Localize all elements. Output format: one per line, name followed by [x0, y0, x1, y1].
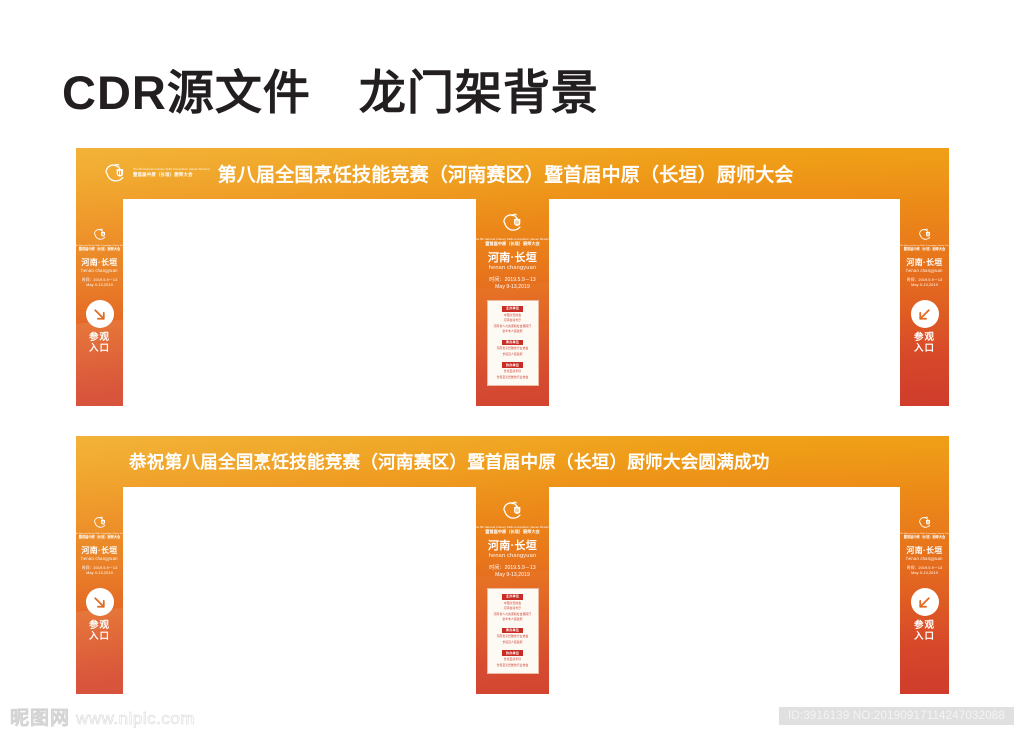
pillar-city-block: 河南·长垣 henan changyuan — [906, 547, 942, 561]
pillar-dates: 时间：2019.5.9－13 May 9-13,2019 — [907, 278, 943, 288]
chef-wok-logo-icon — [500, 499, 525, 524]
city-name-en: henan changyuan — [488, 554, 537, 560]
pillar-logo-cn: 暨首届中原（长垣）厨师大会 — [79, 536, 120, 539]
header-logo: The 8th National Culinary Skills Competi… — [102, 161, 210, 187]
city-name-cn: 河南·长垣 — [906, 547, 942, 555]
card-line: 河南省人力资源和社会保障厅 — [494, 613, 532, 616]
pillar-left: The 8th National Culinary Skills Competi… — [76, 199, 123, 406]
entry-line-2: 入口 — [89, 344, 110, 355]
banner-headline: 第八届全国烹饪技能竞赛（河南赛区）暨首届中原（长垣）厨师大会 — [218, 160, 794, 187]
pillar-logo: The 8th National Culinary Skills Competi… — [896, 515, 949, 540]
pillar-logo: The 8th National Culinary Skills Competi… — [475, 211, 551, 246]
pillar-city-block: 河南·长垣 henan changyuan — [81, 547, 117, 561]
card-line: 长垣县人民政府 — [502, 353, 522, 356]
entry-line-2: 入口 — [914, 344, 935, 355]
gantry-opening-left — [123, 199, 476, 406]
date-cn: 时间：2019.5.9－13 — [489, 565, 535, 572]
date-cn: 时间：2019.5.9－13 — [489, 277, 535, 284]
pillar-logo: The 8th National Culinary Skills Competi… — [896, 227, 949, 252]
card-line: 河南省人力资源和社会保障厅 — [494, 325, 532, 328]
gantry-opening-right — [549, 487, 900, 694]
city-name-en: henan changyuan — [81, 557, 117, 561]
city-name-en: henan changyuan — [906, 557, 942, 561]
pillar-logo-cn: 暨首届中原（长垣）厨师大会 — [485, 242, 539, 246]
card-section-heading: 承办单位 — [502, 628, 523, 634]
pillar-logo: The 8th National Culinary Skills Competi… — [475, 499, 551, 534]
pillar-logo-en: The 8th National Culinary Skills Competi… — [896, 245, 949, 247]
watermark-site-url: www.nipic.com — [76, 709, 195, 729]
watermark-site-cn: 昵图网 — [10, 703, 70, 730]
chef-wok-logo-icon — [917, 515, 933, 531]
card-line: 河南省商务厅 — [504, 607, 521, 610]
banner-header-bar: The 8th National Culinary Skills Competi… — [76, 148, 949, 199]
pillar-center: The 8th National Culinary Skills Competi… — [476, 487, 549, 694]
card-line: 长垣县人民政府 — [502, 641, 522, 644]
card-line: 中国烹饪协会 — [504, 602, 521, 605]
pillar-dates: 时间：2019.5.9－13 May 9-13,2019 — [489, 565, 535, 579]
chef-wok-logo-icon — [500, 211, 525, 236]
pillar-logo-en: The 8th National Culinary Skills Competi… — [475, 526, 551, 529]
pillar-entry-label: 参观 入口 — [89, 333, 110, 354]
gantry-opening-right — [549, 199, 900, 406]
city-name-cn: 河南·长垣 — [488, 253, 537, 265]
pillar-logo-cn: 暨首届中原（长垣）厨师大会 — [904, 248, 945, 251]
chef-wok-logo-icon — [102, 161, 128, 187]
date-en: May 9-13,2019 — [82, 283, 118, 288]
pillar-entry-label: 参观 入口 — [89, 621, 110, 642]
city-name-en: henan changyuan — [488, 266, 537, 272]
city-name-cn: 河南·长垣 — [81, 259, 117, 267]
pillar-logo: The 8th National Culinary Skills Competi… — [76, 227, 128, 252]
city-name-en: henan changyuan — [906, 269, 942, 273]
pillar-logo-en: The 8th National Culinary Skills Competi… — [475, 238, 551, 241]
arrow-down-left-icon — [911, 588, 939, 616]
gantry-banner-bottom: 恭祝第八届全国烹饪技能竞赛（河南赛区）暨首届中原（长垣）厨师大会圆满成功 The… — [76, 436, 949, 694]
date-en: May 9-13,2019 — [489, 284, 535, 291]
card-line: 长垣县烹饪餐饮行业协会 — [497, 664, 529, 667]
entry-line-2: 入口 — [89, 632, 110, 643]
card-section-heading: 承办单位 — [502, 340, 523, 346]
page-title: CDR源文件 龙门架背景 — [62, 66, 599, 120]
chef-wok-logo-icon — [92, 515, 108, 531]
pillar-dates: 时间：2019.5.9－13 May 9-13,2019 — [82, 566, 118, 576]
date-en: May 9-13,2019 — [489, 572, 535, 579]
chef-wok-logo-icon — [917, 227, 933, 243]
card-line: 长垣县商务局 — [504, 658, 521, 661]
banner-header-bar: 恭祝第八届全国烹饪技能竞赛（河南赛区）暨首届中原（长垣）厨师大会圆满成功 — [76, 436, 949, 487]
date-en: May 9-13,2019 — [907, 283, 943, 288]
date-en: May 9-13,2019 — [907, 571, 943, 576]
card-section-heading: 协办单位 — [502, 650, 523, 656]
pillar-left: The 8th National Culinary Skills Competi… — [76, 487, 123, 694]
entry-line-2: 入口 — [914, 632, 935, 643]
pillar-city-block: 河南·长垣 henan changyuan — [488, 253, 537, 272]
card-line: 中国烹饪协会 — [504, 314, 521, 317]
card-section-heading: 主办单位 — [502, 306, 523, 312]
pillar-dates: 时间：2019.5.9－13 May 9-13,2019 — [907, 566, 943, 576]
pillar-city-block: 河南·长垣 henan changyuan — [906, 259, 942, 273]
card-line: 河南省烹饪餐饮行业协会 — [497, 347, 529, 350]
pillar-center: The 8th National Culinary Skills Competi… — [476, 199, 549, 406]
arrow-down-right-icon — [86, 588, 114, 616]
card-line: 新乡市人民政府 — [502, 330, 522, 333]
city-name-cn: 河南·长垣 — [81, 547, 117, 555]
pillar-logo-cn: 暨首届中原（长垣）厨师大会 — [904, 536, 945, 539]
date-en: May 9-13,2019 — [82, 571, 118, 576]
header-logo-text: The 8th National Culinary Skills Competi… — [133, 169, 210, 177]
pillar-logo-en: The 8th National Culinary Skills Competi… — [76, 245, 128, 247]
arrow-down-right-icon — [86, 300, 114, 328]
pillar-dates: 时间：2019.5.9－13 May 9-13,2019 — [82, 278, 118, 288]
arrow-down-left-icon — [911, 300, 939, 328]
pillar-logo: The 8th National Culinary Skills Competi… — [76, 515, 128, 540]
pillar-entry-label: 参观 入口 — [914, 333, 935, 354]
card-line: 长垣县商务局 — [504, 370, 521, 373]
card-line: 新乡市人民政府 — [502, 618, 522, 621]
site-watermark: 昵图网 www.nipic.com — [10, 703, 195, 730]
gantry-opening-left — [123, 487, 476, 694]
pillar-dates: 时间：2019.5.9－13 May 9-13,2019 — [489, 277, 535, 291]
pillar-logo-en: The 8th National Culinary Skills Competi… — [76, 533, 128, 535]
organizers-info-card: 主办单位 中国烹饪协会 河南省商务厅 河南省人力资源和社会保障厅 新乡市人民政府… — [487, 588, 539, 675]
card-section-heading: 协办单位 — [502, 362, 523, 368]
pillar-logo-cn: 暨首届中原（长垣）厨师大会 — [485, 530, 539, 534]
pillar-logo-en: The 8th National Culinary Skills Competi… — [896, 533, 949, 535]
pillar-city-block: 河南·长垣 henan changyuan — [488, 541, 537, 560]
city-name-cn: 河南·长垣 — [488, 541, 537, 553]
pillar-entry-label: 参观 入口 — [914, 621, 935, 642]
logo-cn-line: 暨首届中原（长垣）厨师大会 — [133, 173, 210, 177]
city-name-cn: 河南·长垣 — [906, 259, 942, 267]
asset-id-watermark: ID:3916139 NO:20190917114247032088 — [779, 707, 1014, 725]
card-line: 河南省商务厅 — [504, 319, 521, 322]
city-name-en: henan changyuan — [81, 269, 117, 273]
card-line: 河南省烹饪餐饮行业协会 — [497, 635, 529, 638]
card-line: 长垣县烹饪餐饮行业协会 — [497, 376, 529, 379]
logo-en-line: The 8th National Culinary Skills Competi… — [133, 169, 210, 172]
pillar-logo-cn: 暨首届中原（长垣）厨师大会 — [79, 248, 120, 251]
pillar-right: The 8th National Culinary Skills Competi… — [900, 199, 949, 406]
pillar-right: The 8th National Culinary Skills Competi… — [900, 487, 949, 694]
pillar-city-block: 河南·长垣 henan changyuan — [81, 259, 117, 273]
organizers-info-card: 主办单位 中国烹饪协会 河南省商务厅 河南省人力资源和社会保障厅 新乡市人民政府… — [487, 300, 539, 387]
banner-headline: 恭祝第八届全国烹饪技能竞赛（河南赛区）暨首届中原（长垣）厨师大会圆满成功 — [129, 449, 770, 474]
card-section-heading: 主办单位 — [502, 594, 523, 600]
gantry-banner-top: The 8th National Culinary Skills Competi… — [76, 148, 949, 406]
chef-wok-logo-icon — [92, 227, 108, 243]
